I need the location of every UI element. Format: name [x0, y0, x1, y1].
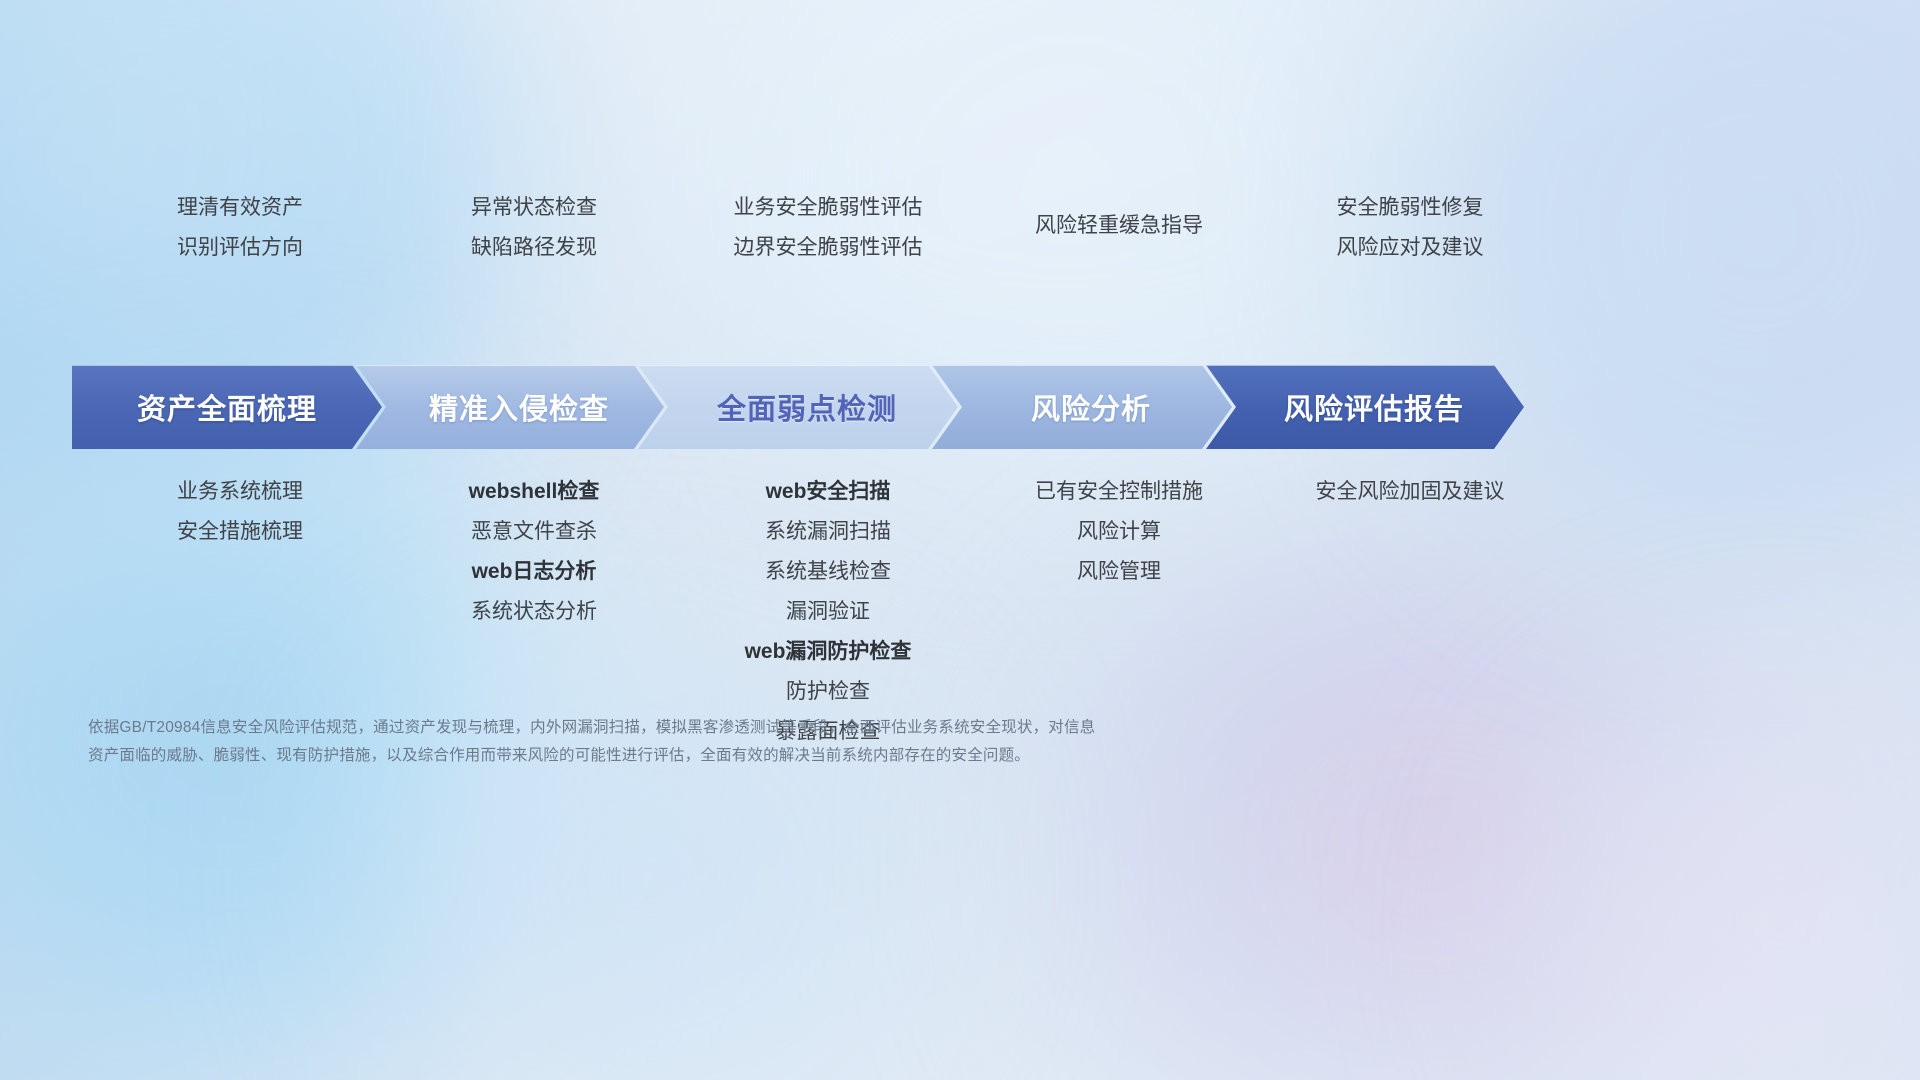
top-label: 理清有效资产 [90, 188, 390, 228]
bottom-labels-stage-5: 安全风险加固及建议 [1260, 472, 1560, 752]
bottom-label: 防护检查 [678, 672, 978, 712]
bottom-labels-stage-1: 业务系统梳理 安全措施梳理 [90, 472, 390, 752]
stage-title: 精准入侵检查 [411, 386, 609, 428]
top-label: 边界安全脆弱性评估 [678, 228, 978, 268]
top-label: 缺陷路径发现 [390, 228, 678, 268]
bottom-labels-stage-2: webshell检查 恶意文件查杀 web日志分析 系统状态分析 [390, 472, 678, 752]
top-labels-stage-1: 理清有效资产 识别评估方向 [90, 188, 390, 268]
top-label: 异常状态检查 [390, 188, 678, 228]
bottom-label: 风险计算 [978, 512, 1260, 552]
bottom-label: 风险管理 [978, 552, 1260, 592]
bottom-label: web安全扫描 [678, 472, 978, 512]
bottom-label: 安全风险加固及建议 [1260, 472, 1560, 512]
bottom-label: web漏洞防护检查 [678, 632, 978, 672]
bottom-label: 业务系统梳理 [90, 472, 390, 512]
footer-line-1: 依据GB/T20984信息安全风险评估规范，通过资产发现与梳理，内外网漏洞扫描，… [88, 714, 1318, 742]
bottom-label: web日志分析 [390, 552, 678, 592]
top-labels-stage-4: 风险轻重缓急指导 [978, 188, 1260, 268]
bottom-label: 已有安全控制措施 [978, 472, 1260, 512]
top-label: 业务安全脆弱性评估 [678, 188, 978, 228]
bottom-label: 系统状态分析 [390, 592, 678, 632]
top-label: 风险轻重缓急指导 [978, 206, 1260, 246]
stage-arrow-5[interactable]: 风险评估报告 [1206, 365, 1524, 449]
bottom-labels-stage-4: 已有安全控制措施 风险计算 风险管理 [978, 472, 1260, 752]
stage-arrow-1[interactable]: 资产全面梳理 [72, 365, 382, 449]
top-labels-stage-5: 安全脆弱性修复 风险应对及建议 [1260, 188, 1560, 268]
top-label: 风险应对及建议 [1260, 228, 1560, 268]
bottom-labels-stage-3: web安全扫描 系统漏洞扫描 系统基线检查 漏洞验证 web漏洞防护检查 防护检… [678, 472, 978, 752]
top-label-row: 理清有效资产 识别评估方向 异常状态检查 缺陷路径发现 业务安全脆弱性评估 边界… [90, 188, 1860, 268]
stage-arrow-4[interactable]: 风险分析 [932, 365, 1232, 449]
top-labels-stage-2: 异常状态检查 缺陷路径发现 [390, 188, 678, 268]
top-labels-stage-3: 业务安全脆弱性评估 边界安全脆弱性评估 [678, 188, 978, 268]
process-diagram: 理清有效资产 识别评估方向 异常状态检查 缺陷路径发现 业务安全脆弱性评估 边界… [0, 0, 1920, 1080]
bottom-label-row: 业务系统梳理 安全措施梳理 webshell检查 恶意文件查杀 web日志分析 … [90, 472, 1860, 752]
footer-line-2: 资产面临的威胁、脆弱性、现有防护措施，以及综合作用而带来风险的可能性进行评估，全… [88, 742, 1318, 770]
stage-title: 风险评估报告 [1266, 386, 1464, 428]
stage-arrow-2[interactable]: 精准入侵检查 [356, 365, 664, 449]
stage-title: 风险分析 [1013, 386, 1151, 428]
bottom-label: 漏洞验证 [678, 592, 978, 632]
stage-title: 资产全面梳理 [137, 386, 317, 428]
bottom-label: 恶意文件查杀 [390, 512, 678, 552]
top-label: 安全脆弱性修复 [1260, 188, 1560, 228]
bottom-label: 安全措施梳理 [90, 512, 390, 552]
footer-description: 依据GB/T20984信息安全风险评估规范，通过资产发现与梳理，内外网漏洞扫描，… [88, 714, 1318, 770]
bottom-label: 系统基线检查 [678, 552, 978, 592]
stage-arrow-band: 资产全面梳理 精准入侵检查 全面弱点检测 风险分析 风险评估报告 [72, 365, 1524, 449]
bottom-label: 系统漏洞扫描 [678, 512, 978, 552]
stage-title: 全面弱点检测 [699, 386, 897, 428]
top-label: 识别评估方向 [90, 228, 390, 268]
stage-arrow-3[interactable]: 全面弱点检测 [638, 365, 958, 449]
bottom-label: webshell检查 [390, 472, 678, 512]
